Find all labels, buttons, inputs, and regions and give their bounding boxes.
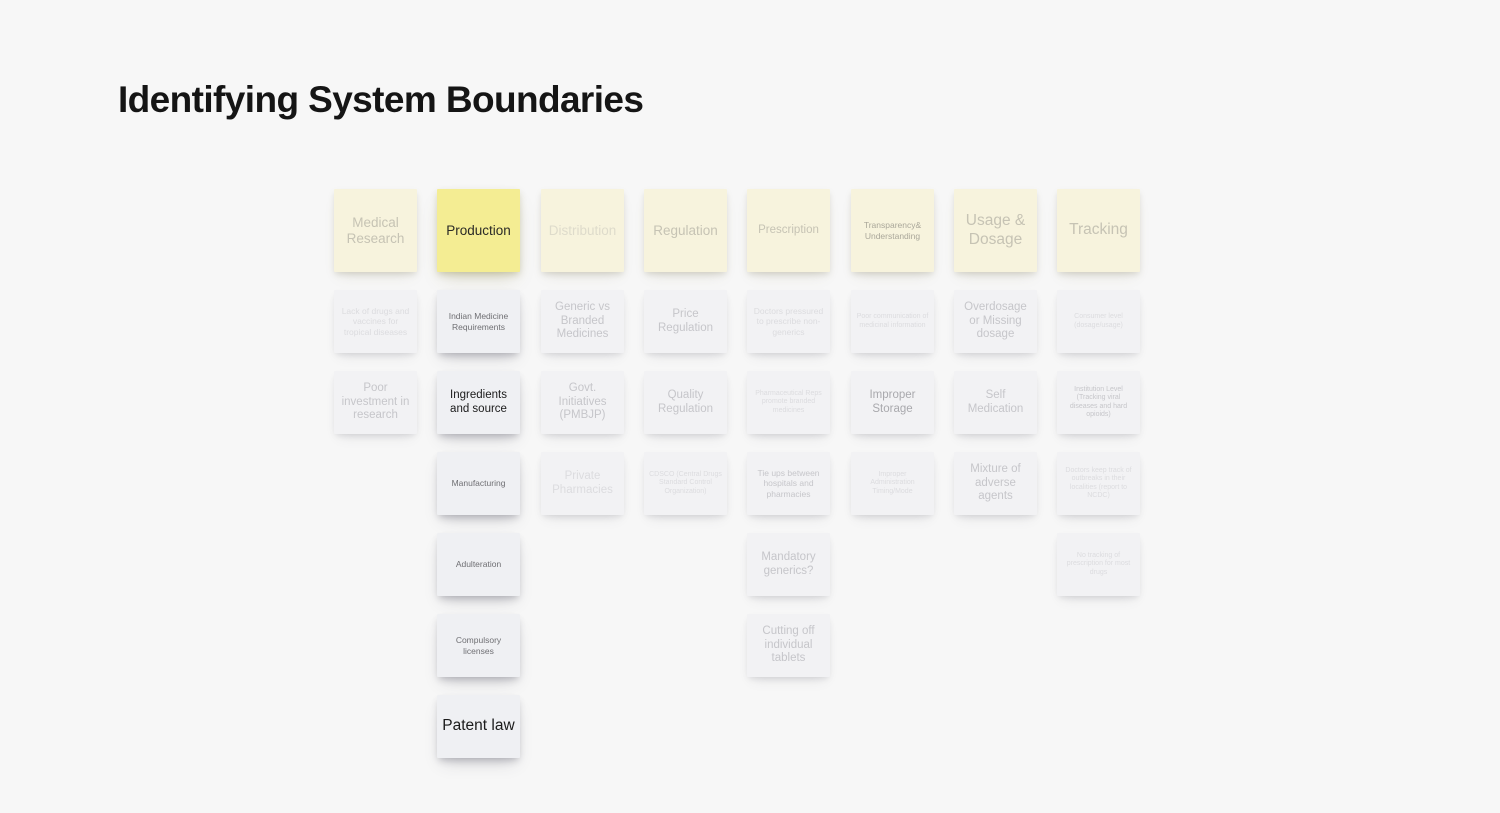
sticky-note[interactable]: Private Pharmacies — [541, 452, 624, 515]
sticky-note-label: Manufacturing — [452, 478, 506, 488]
sticky-note[interactable]: No tracking of prescription for most dru… — [1057, 533, 1140, 596]
header-note-prescription[interactable]: Prescription — [747, 189, 830, 272]
sticky-note-label: Indian Medicine Requirements — [442, 311, 515, 331]
sticky-note-label: Compulsory licenses — [442, 635, 515, 655]
header-note-regulation[interactable]: Regulation — [644, 189, 727, 272]
sticky-note[interactable]: Lack of drugs and vaccines for tropical … — [334, 290, 417, 353]
sticky-note[interactable]: Generic vs Branded Medicines — [541, 290, 624, 353]
header-note-label: Prescription — [758, 224, 819, 238]
sticky-note-label: No tracking of prescription for most dru… — [1062, 552, 1135, 577]
sticky-note[interactable]: Adulteration — [437, 533, 520, 596]
sticky-note-label: Improper Administration Timing/Mode — [856, 471, 929, 496]
sticky-note[interactable]: Tie ups between hospitals and pharmacies — [747, 452, 830, 515]
sticky-note-label: CDSCO (Central Drugs Standard Control Or… — [649, 471, 722, 496]
header-note-label: Usage & Dosage — [959, 212, 1032, 249]
sticky-note[interactable]: Doctors pressured to prescribe non-gener… — [747, 290, 830, 353]
sticky-note-label: Pharmaceutical Reps promote branded medi… — [752, 390, 825, 415]
sticky-note[interactable]: Pharmaceutical Reps promote branded medi… — [747, 371, 830, 434]
sticky-note[interactable]: Poor investment in research — [334, 371, 417, 434]
sticky-note[interactable]: Cutting off individual tablets — [747, 614, 830, 677]
sticky-note-label: Doctors pressured to prescribe non-gener… — [752, 306, 825, 336]
sticky-note[interactable]: Price Regulation — [644, 290, 727, 353]
sticky-note[interactable]: Mixture of adverse agents — [954, 452, 1037, 515]
column-distribution: DistributionGeneric vs Branded Medicines… — [541, 189, 624, 533]
sticky-note-label: Ingredients and source — [442, 389, 515, 416]
sticky-note-label: Tie ups between hospitals and pharmacies — [752, 468, 825, 498]
sticky-note[interactable]: CDSCO (Central Drugs Standard Control Or… — [644, 452, 727, 515]
header-note-label: Transparency& Understanding — [856, 220, 929, 240]
header-note-label: Production — [446, 223, 511, 239]
sticky-note-label: Price Regulation — [649, 308, 722, 335]
sticky-note-label: Doctors keep track of outbreaks in their… — [1062, 467, 1135, 500]
header-note-transparency-understanding[interactable]: Transparency& Understanding — [851, 189, 934, 272]
header-note-usage-dosage[interactable]: Usage & Dosage — [954, 189, 1037, 272]
sticky-note-label: Institution Level (Tracking viral diseas… — [1062, 386, 1135, 419]
header-note-production[interactable]: Production — [437, 189, 520, 272]
sticky-note-label: Private Pharmacies — [546, 470, 619, 497]
header-note-medical-research[interactable]: Medical Research — [334, 189, 417, 272]
column-prescription: PrescriptionDoctors pressured to prescri… — [747, 189, 830, 695]
header-note-label: Distribution — [549, 223, 617, 239]
sticky-note[interactable]: Compulsory licenses — [437, 614, 520, 677]
sticky-note[interactable]: Quality Regulation — [644, 371, 727, 434]
column-transparency-understanding: Transparency& UnderstandingPoor communic… — [851, 189, 934, 533]
header-note-label: Medical Research — [339, 215, 412, 247]
sticky-note-label: Cutting off individual tablets — [752, 625, 825, 666]
sticky-note-label: Generic vs Branded Medicines — [546, 301, 619, 342]
header-note-label: Regulation — [653, 223, 718, 239]
sticky-note[interactable]: Improper Administration Timing/Mode — [851, 452, 934, 515]
sticky-note[interactable]: Doctors keep track of outbreaks in their… — [1057, 452, 1140, 515]
header-note-label: Tracking — [1069, 221, 1128, 239]
sticky-note-label: Poor investment in research — [339, 382, 412, 423]
column-usage-dosage: Usage & DosageOverdosage or Missing dosa… — [954, 189, 1037, 533]
sticky-note[interactable]: Manufacturing — [437, 452, 520, 515]
sticky-note[interactable]: Consumer level (dosage/usage) — [1057, 290, 1140, 353]
sticky-note-label: Mandatory generics? — [752, 551, 825, 578]
sticky-note-label: Quality Regulation — [649, 389, 722, 416]
sticky-note[interactable]: Improper Storage — [851, 371, 934, 434]
sticky-note-label: Mixture of adverse agents — [959, 463, 1032, 504]
column-regulation: RegulationPrice RegulationQuality Regula… — [644, 189, 727, 533]
sticky-note[interactable]: Indian Medicine Requirements — [437, 290, 520, 353]
sticky-note-label: Poor communication of medicinal informat… — [856, 313, 929, 330]
sticky-note[interactable]: Ingredients and source — [437, 371, 520, 434]
sticky-note-label: Patent law — [442, 717, 514, 735]
sticky-note-label: Consumer level (dosage/usage) — [1062, 313, 1135, 330]
sticky-note[interactable]: Mandatory generics? — [747, 533, 830, 596]
sticky-note[interactable]: Govt. Initiatives (PMBJP) — [541, 371, 624, 434]
sticky-note[interactable]: Self Medication — [954, 371, 1037, 434]
sticky-note[interactable]: Poor communication of medicinal informat… — [851, 290, 934, 353]
column-production: ProductionIndian Medicine RequirementsIn… — [437, 189, 520, 776]
column-medical-research: Medical ResearchLack of drugs and vaccin… — [334, 189, 417, 452]
sticky-note-label: Self Medication — [959, 389, 1032, 416]
header-note-tracking[interactable]: Tracking — [1057, 189, 1140, 272]
page-title: Identifying System Boundaries — [118, 79, 643, 121]
sticky-note[interactable]: Patent law — [437, 695, 520, 758]
sticky-note-label: Adulteration — [456, 559, 501, 569]
sticky-note-board: Identifying System Boundaries Medical Re… — [0, 0, 1500, 813]
header-note-distribution[interactable]: Distribution — [541, 189, 624, 272]
sticky-note-label: Overdosage or Missing dosage — [959, 301, 1032, 342]
column-tracking: TrackingConsumer level (dosage/usage)Ins… — [1057, 189, 1140, 614]
sticky-note[interactable]: Overdosage or Missing dosage — [954, 290, 1037, 353]
sticky-note-label: Govt. Initiatives (PMBJP) — [546, 382, 619, 423]
sticky-note-label: Lack of drugs and vaccines for tropical … — [339, 306, 412, 336]
sticky-note[interactable]: Institution Level (Tracking viral diseas… — [1057, 371, 1140, 434]
sticky-note-label: Improper Storage — [856, 389, 929, 416]
